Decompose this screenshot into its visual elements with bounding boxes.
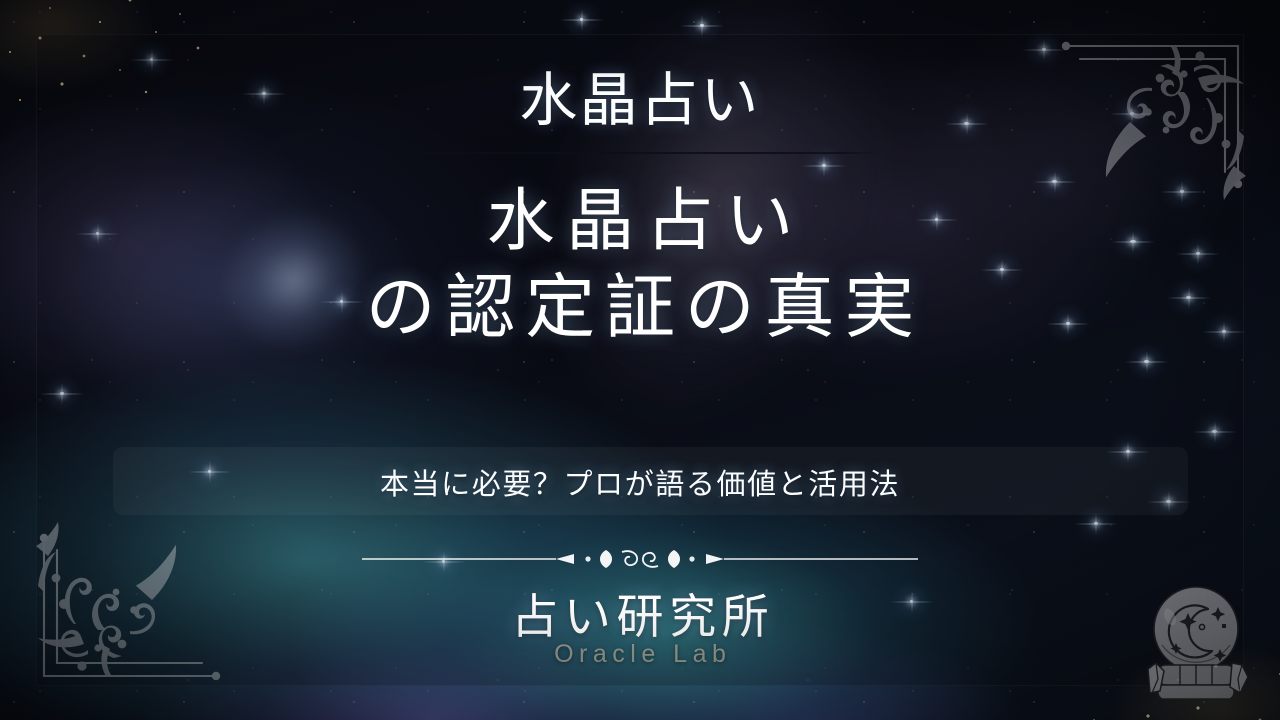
- ornament-divider-icon: [0, 548, 1280, 570]
- title-divider-rule: [403, 152, 877, 154]
- crystal-ball-icon: [1136, 577, 1256, 702]
- brand-name-en: Oracle Lab: [0, 640, 1280, 669]
- eyebrow-title: 水晶占い: [519, 72, 760, 130]
- title-card: 水晶占い 水晶占い の認定証の真実 本当に必要？プロが語る価値と活用法: [0, 0, 1280, 720]
- brand-name-ja: 占い研究所: [0, 578, 1280, 647]
- page-title: 水晶占い の認定証の真実: [356, 182, 924, 349]
- headline-line-1: 水晶占い: [356, 182, 924, 262]
- headline-line-2: の認定証の真実: [356, 268, 924, 350]
- subtitle: 本当に必要？プロが語る価値と活用法: [0, 461, 1280, 503]
